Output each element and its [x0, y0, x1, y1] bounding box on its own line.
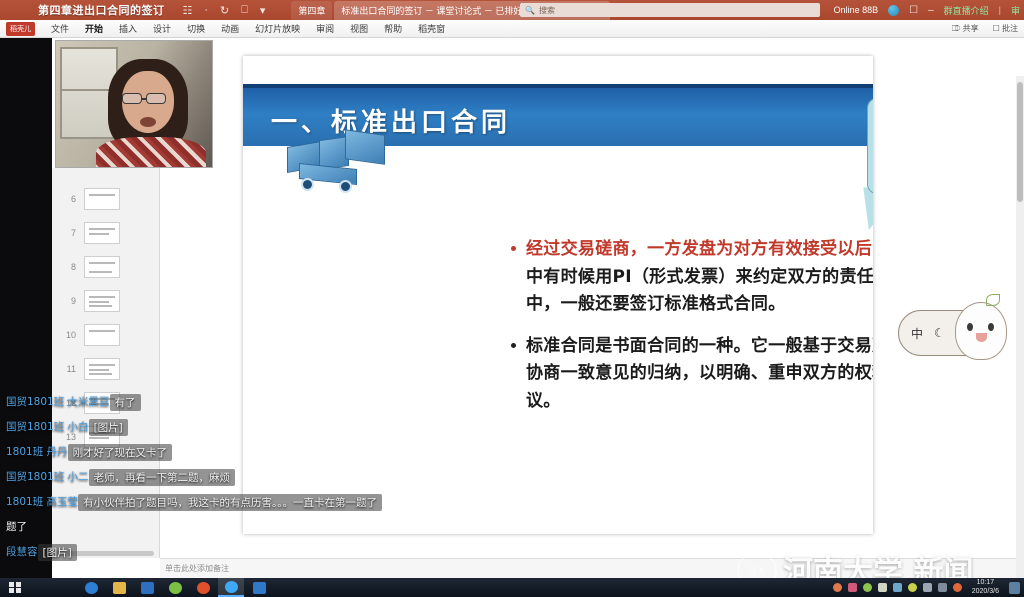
search-icon: 🔍	[525, 6, 535, 15]
mascot-eye-right	[988, 323, 994, 331]
redo-icon[interactable]: ⎕	[241, 4, 248, 17]
antivirus-icon[interactable]	[833, 583, 842, 592]
chat-text: 老师，再看一下第二题，麻烦	[89, 469, 236, 486]
thumbnail-preview	[84, 324, 120, 346]
review-label[interactable]: 审	[1011, 4, 1020, 17]
chat-user: 国贸1801班 小二	[0, 469, 89, 484]
thumbnail-number: 9	[62, 296, 76, 306]
taskbar-clock[interactable]: 10:17 2020/3/6	[968, 579, 1003, 597]
glasses-left-icon	[122, 93, 142, 104]
restore-icon[interactable]: ☐	[909, 5, 918, 16]
thumbnail-preview	[84, 222, 120, 244]
thumbnail-preview	[84, 256, 120, 278]
tab-insert[interactable]: 插入	[119, 22, 137, 35]
thumbnail-number: 10	[62, 330, 76, 340]
thumbnail-item[interactable]: 10	[52, 318, 159, 352]
thumbnail-item[interactable]: 6	[52, 182, 159, 216]
ime-mascot-icon[interactable]	[955, 302, 1007, 360]
thumbnail-number: 6	[62, 194, 76, 204]
chat-message: 国贸1801班 小二 老师，再看一下第二题，麻烦	[0, 469, 430, 486]
slide-body: 经过交易磋商，一方发盘为对方有效接受以后，合同即告成立。跨境贸易中有时候用PI（…	[511, 236, 873, 429]
grid-icon[interactable]: ☷	[183, 4, 193, 17]
tab-slideshow[interactable]: 幻灯片放映	[255, 22, 300, 35]
chat-text: 有了	[110, 394, 141, 411]
chat-text: [图片]	[38, 544, 77, 561]
activate-windows-subtitle: 转到“设置”以激活 Windows。	[847, 563, 964, 576]
ppt-icon[interactable]	[246, 578, 272, 597]
bullet-dot-icon	[511, 246, 516, 251]
chat-message: 1801班 高玉莹 有小伙伴拍了题目吗，我这卡的有点历害。。。一直卡在第一题了	[0, 494, 430, 511]
presenter-mouth	[140, 117, 156, 127]
document-title: 第四章进出口合同的签订	[0, 2, 165, 18]
slide-bullet: 标准合同是书面合同的一种。它一般基于交易双方的往来函电，是对双方协商一致意见的归…	[511, 333, 873, 416]
minimize-icon[interactable]: –	[928, 5, 934, 16]
moon-icon[interactable]: ☾	[934, 326, 945, 340]
wps-title-bar: 第四章进出口合同的签订 ☷ · ↻ ⎕ ▾ 第四章 标准出口合同的签订 － 课堂…	[0, 0, 1024, 20]
ribbon-tabs: 文件 开始 插入 设计 切换 动画 幻灯片放映 审阅 视图 帮助 稻壳窗	[51, 22, 445, 35]
undo-icon[interactable]: ↻	[220, 4, 229, 17]
share-label: 共享	[963, 24, 979, 33]
chat-message: 国贸1801班 大米黑豆 有了	[0, 394, 430, 411]
arrow-icon[interactable]	[938, 583, 947, 592]
glasses-bridge	[142, 98, 147, 100]
divider: |	[999, 5, 1001, 15]
clock-date: 2020/3/6	[972, 588, 999, 597]
network-icon[interactable]	[893, 583, 902, 592]
separator-icon: ·	[204, 4, 208, 17]
tab-file[interactable]: 文件	[51, 22, 69, 35]
mascot-mouth	[976, 333, 987, 342]
chat-text: 刚才好了现在又卡了	[68, 444, 173, 461]
edge-icon[interactable]	[78, 578, 104, 597]
presenter-webcam[interactable]	[55, 40, 213, 168]
truck-illustration	[281, 128, 411, 198]
volume-icon[interactable]	[908, 583, 917, 592]
taskbar-apps	[78, 578, 272, 597]
tab-review[interactable]: 审阅	[316, 22, 334, 35]
thumbnail-item[interactable]: 7	[52, 216, 159, 250]
chat-user: 段慧容	[0, 544, 38, 559]
quick-access-toolbar: ☷ · ↻ ⎕ ▾	[183, 4, 266, 17]
cloud-icon[interactable]	[848, 583, 857, 592]
search-placeholder: 搜索	[539, 5, 555, 16]
broadcast-intro-link[interactable]: 群直播介绍	[944, 4, 989, 17]
comment-button[interactable]: ☐ 批注	[993, 23, 1018, 34]
chat-message: 1801班 丹丹 刚才好了现在又卡了	[0, 444, 430, 461]
bullet-text: 经过交易磋商，一方发盘为对方有效接受以后，合同即告成立。跨境贸易中有时候用PI（…	[526, 236, 873, 319]
tab-transitions[interactable]: 切换	[187, 22, 205, 35]
chat-message: 段慧容 [图片]	[0, 544, 430, 561]
start-button[interactable]	[0, 578, 30, 597]
chat-text: 有小伙伴拍了题目吗，我这卡的有点历害。。。一直卡在第一题了	[78, 494, 382, 511]
wps-icon[interactable]	[134, 578, 160, 597]
system-tray: 10:17 2020/3/6	[833, 579, 1020, 597]
thumbnail-preview	[84, 290, 120, 312]
thumbnail-preview	[84, 188, 120, 210]
search-input[interactable]: 🔍 搜索	[520, 3, 820, 17]
tab-home[interactable]: 开始	[85, 22, 103, 35]
chat-user: 国贸1801班 小白	[0, 419, 89, 434]
thumbnail-preview	[84, 358, 120, 380]
avatar[interactable]	[888, 5, 899, 16]
bullet-text: 标准合同是书面合同的一种。它一般基于交易双方的往来函电，是对双方协商一致意见的归…	[526, 333, 873, 416]
bullet-dot-icon	[511, 343, 516, 348]
chat-message: 国贸1801班 小白 [图片]	[0, 419, 430, 436]
chat-text: [图片]	[89, 419, 128, 436]
windows-taskbar: 10:17 2020/3/6	[0, 578, 1024, 597]
screen: 第四章进出口合同的签订 ☷ · ↻ ⎕ ▾ 第四章 标准出口合同的签订 － 课堂…	[0, 0, 1024, 597]
share-icon: ⎄	[952, 24, 960, 33]
presenter-body	[96, 137, 206, 168]
media-icon[interactable]	[190, 578, 216, 597]
clock-time: 10:17	[972, 579, 999, 588]
ime-icon[interactable]	[923, 583, 932, 592]
app-body: 6 7 8 9 10 11	[0, 38, 1024, 578]
thumbnail-item[interactable]: 8	[52, 250, 159, 284]
vertical-scrollbar[interactable]	[1016, 76, 1024, 578]
thumbnail-number: 11	[62, 364, 76, 374]
tab-view[interactable]: 视图	[350, 22, 368, 35]
speech-bubble: 《公约》第11条规定：销售合同无须以书面订立或书面证明。在形式方面也不受任何其他…	[867, 98, 873, 194]
tab-design[interactable]: 设计	[153, 22, 171, 35]
chat-user: 国贸1801班 大米黑豆	[0, 394, 110, 409]
ribbon-tab-bar: 稻壳儿 文件 开始 插入 设计 切换 动画 幻灯片放映 审阅 视图 帮助 稻壳窗…	[0, 20, 1024, 38]
speech-bubble-tail	[859, 187, 873, 233]
banner-accent-bar	[243, 84, 873, 88]
bullet-rest: 标准合同是书面合同的一种。它一般基于交易双方的往来函电，是对双方协商一致意见的归…	[526, 336, 873, 411]
tab-help[interactable]: 帮助	[384, 22, 402, 35]
sprout-icon	[986, 294, 1000, 306]
tab-animations[interactable]: 动画	[221, 22, 239, 35]
bullet-highlight: 经过交易磋商，一方发盘为对方有效接受以后，合同即告成立。	[526, 239, 873, 259]
wps-badge[interactable]: 稻壳儿	[6, 22, 35, 36]
app-icon[interactable]	[953, 583, 962, 592]
glasses-right-icon	[146, 93, 166, 104]
browser-icon[interactable]	[218, 578, 244, 597]
ime-mode-label[interactable]: 中	[911, 325, 923, 342]
thumbnail-item[interactable]: 11	[52, 352, 159, 386]
show-desktop-icon[interactable]	[1009, 582, 1020, 594]
slide-bullet: 经过交易磋商，一方发盘为对方有效接受以后，合同即告成立。跨境贸易中有时候用PI（…	[511, 236, 873, 319]
chat-continuation: 题了	[0, 519, 430, 534]
mascot-eye-left	[967, 323, 973, 331]
scrollbar-thumb[interactable]	[1017, 82, 1023, 202]
account-label[interactable]: Online 88B	[834, 5, 879, 15]
thumbnail-number: 8	[62, 262, 76, 272]
tab-docer[interactable]: 稻壳窗	[418, 22, 445, 35]
comment-icon: ☐	[993, 24, 1000, 33]
more-icon[interactable]: ▾	[260, 4, 266, 17]
ribbon-right-actions: ⎄ 共享 ☐ 批注	[952, 23, 1018, 34]
share-button[interactable]: ⎄ 共享	[952, 23, 979, 34]
explorer-icon[interactable]	[106, 578, 132, 597]
qq-icon[interactable]	[162, 578, 188, 597]
thumbnail-item[interactable]: 9	[52, 284, 159, 318]
chat-user: 1801班 丹丹	[0, 444, 68, 459]
comment-label: 批注	[1002, 24, 1018, 33]
shield-icon[interactable]	[863, 583, 872, 592]
thumbnail-number: 7	[62, 228, 76, 238]
chat-user: 1801班 高玉莹	[0, 494, 78, 509]
live-chat-messages: 国贸1801班 大米黑豆 有了 国贸1801班 小白 [图片] 1801班 丹丹…	[0, 394, 430, 569]
document-tab-0[interactable]: 第四章	[291, 1, 332, 20]
titlebar-right-controls: Online 88B ☐ – 群直播介绍 | 审	[834, 0, 1024, 20]
battery-icon[interactable]	[878, 583, 887, 592]
